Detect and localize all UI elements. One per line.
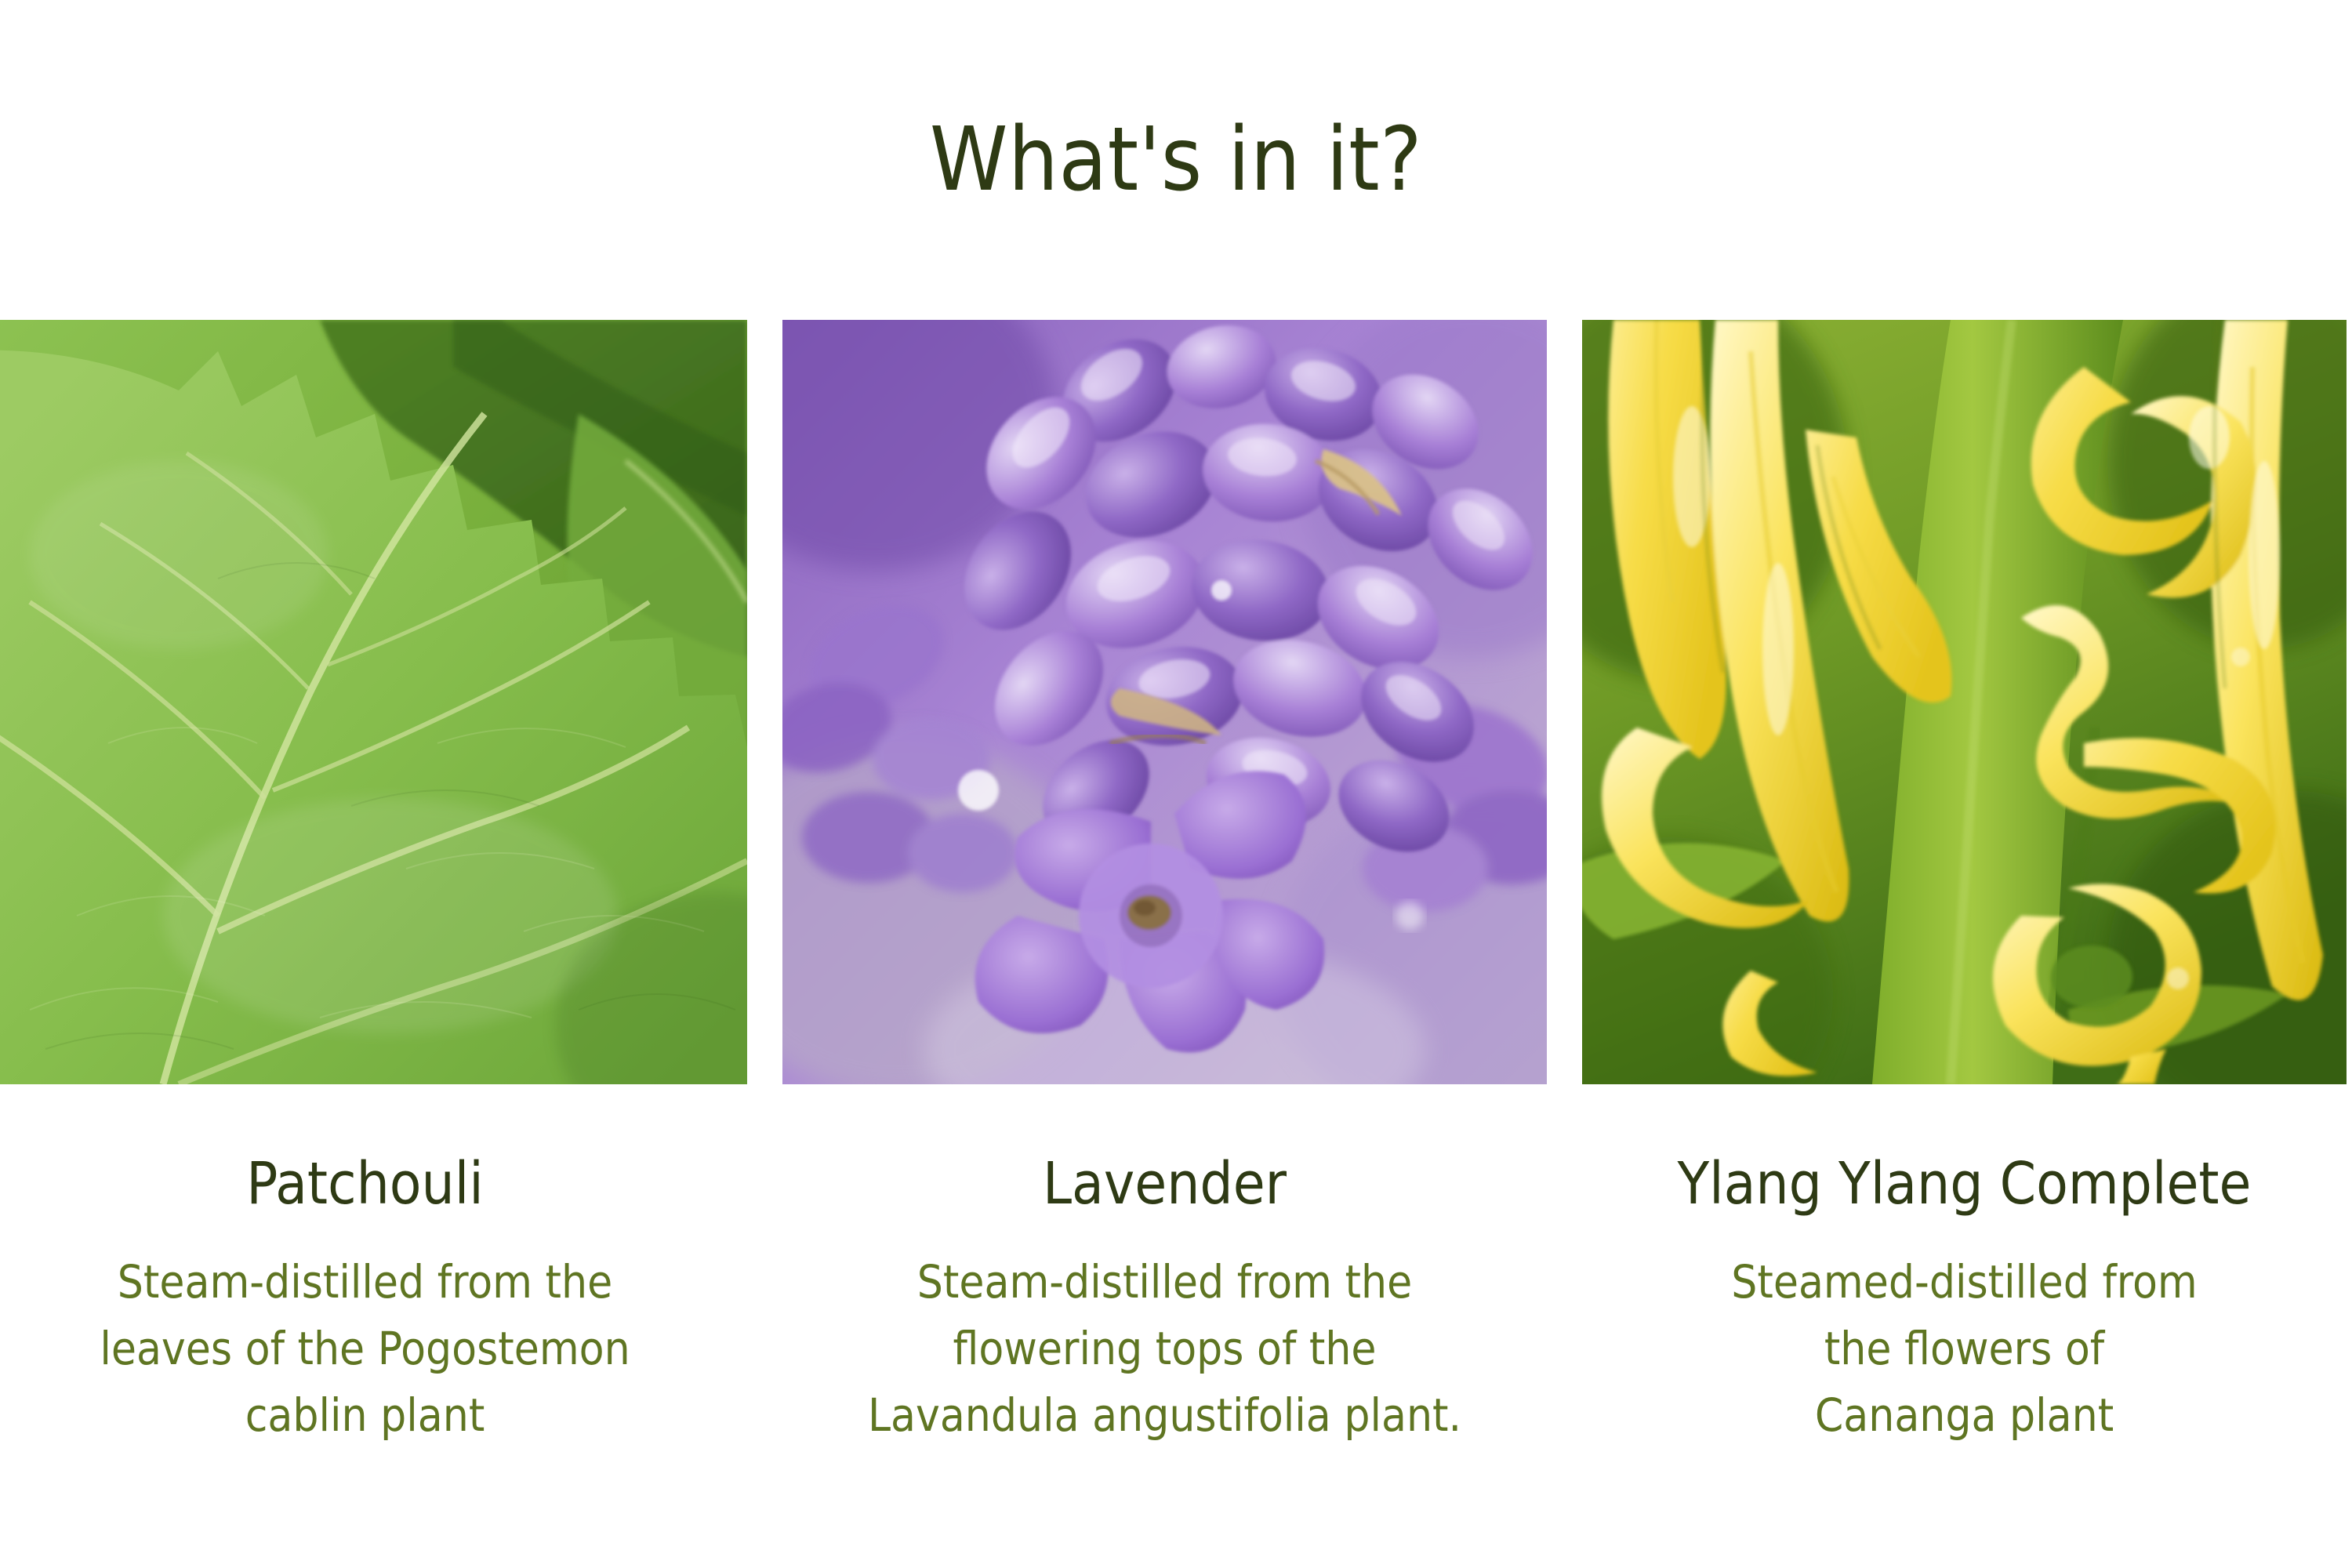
ingredient-card-patchouli: Patchouli Steam-distilled from the leave… [0,320,747,1449]
card-description-lavender: Steam-distilled from the flowering tops … [782,1249,1547,1449]
ingredient-card-lavender: Lavender Steam-distilled from the flower… [782,320,1547,1449]
patchouli-leaf-image [0,320,747,1084]
page-root: What's in it? [0,0,2352,1568]
ylang-ylang-flower-illustration [1582,320,2347,1084]
card-description-ylang-ylang: Steamed-distilled from the flowers of Ca… [1582,1249,2347,1449]
ingredient-card-grid: Patchouli Steam-distilled from the leave… [0,320,2352,1449]
card-title-ylang-ylang: Ylang Ylang Complete [1582,1155,2347,1213]
ylang-ylang-flower-image [1582,320,2347,1084]
page-title: What's in it? [0,116,2352,204]
lavender-flower-image [782,320,1547,1084]
card-title-patchouli: Patchouli [0,1155,747,1213]
ingredient-card-ylang-ylang: Ylang Ylang Complete Steamed-distilled f… [1582,320,2347,1449]
lavender-flower-illustration [782,320,1547,1084]
card-description-patchouli: Steam-distilled from the leaves of the P… [0,1249,747,1449]
patchouli-leaf-illustration [0,320,747,1084]
card-title-lavender: Lavender [782,1155,1547,1213]
